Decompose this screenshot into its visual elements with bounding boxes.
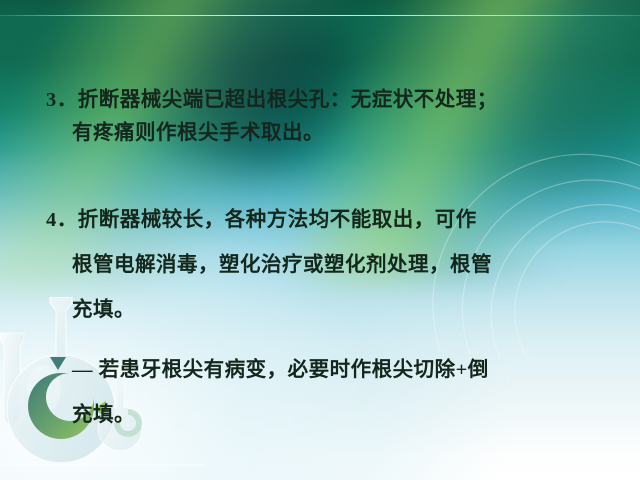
- bullet-item-4-sub-line-2: 充填。: [46, 393, 606, 438]
- slide-canvas: 3．折断器械尖端已超出根尖孔：无症状不处理； 有疼痛则作根尖手术取出。 4．折断…: [0, 0, 640, 480]
- bullet-item-3-line-1: 3．折断器械尖端已超出根尖孔：无症状不处理；: [46, 84, 606, 117]
- bullet-item-3: 3．折断器械尖端已超出根尖孔：无症状不处理； 有疼痛则作根尖手术取出。: [46, 84, 606, 150]
- bullet-item-4-sub-line-1: — 若患牙根尖有病变，必要时作根尖切除+倒: [46, 348, 606, 393]
- bullet-item-4-line-1: 4．折断器械较长，各种方法均不能取出，可作: [46, 198, 606, 243]
- bullet-item-4: 4．折断器械较长，各种方法均不能取出，可作 根管电解消毒，塑化治疗或塑化剂处理，…: [46, 198, 606, 333]
- bullet-item-3-line-2: 有疼痛则作根尖手术取出。: [46, 117, 606, 150]
- bullet-item-4-line-3: 充填。: [46, 288, 606, 333]
- bullet-item-4-sub: — 若患牙根尖有病变，必要时作根尖切除+倒 充填。: [46, 348, 606, 438]
- bullet-item-4-line-2: 根管电解消毒，塑化治疗或塑化剂处理，根管: [46, 243, 606, 288]
- slide-text-body: 3．折断器械尖端已超出根尖孔：无症状不处理； 有疼痛则作根尖手术取出。 4．折断…: [0, 0, 640, 480]
